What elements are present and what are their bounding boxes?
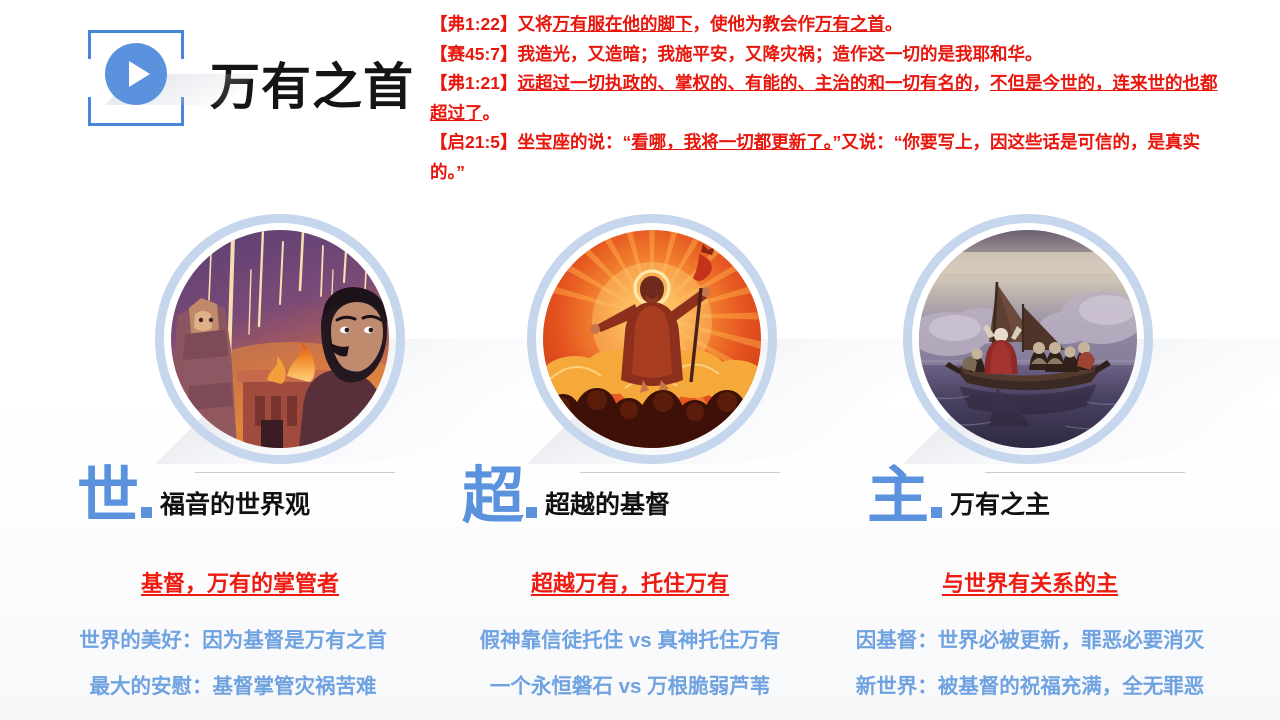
scripture-3-mid: ， <box>973 73 991 93</box>
column-points-grid: 世界的美好：因为基督是万有之首 最大的安慰：基督掌管灾祸苦难 假神靠信徒托住 v… <box>0 628 1280 718</box>
scripture-1-underline-2: 万有之首 <box>815 14 885 34</box>
column-heading-3: 主 万有之主 <box>845 462 1245 542</box>
heading-big-char-3: 主 <box>867 462 929 532</box>
circle-1-ring <box>155 214 405 464</box>
point-1-2: 最大的安慰：基督掌管灾祸苦难 <box>23 674 443 700</box>
scripture-3-suffix: 。 <box>483 103 501 123</box>
play-button-icon[interactable] <box>105 43 167 105</box>
heading-big-char-2: 超 <box>462 462 524 532</box>
point-2-1: 假神靠信徒托住 vs 真神托住万有 <box>420 628 840 654</box>
column-heading-2: 超 超越的基督 <box>440 462 840 542</box>
scripture-1-underline-1: 万有服在他的脚下 <box>553 14 693 34</box>
scripture-line-4: 【启21:5】坐宝座的说：“看哪，我将一切都更新了。”又说：“你要写上，因这些话… <box>430 128 1230 187</box>
circle-image-3 <box>903 214 1153 464</box>
column-headings-row: 世 福音的世界观 超 超越的基督 主 万有之主 <box>0 462 1280 542</box>
circle-2-ring <box>527 214 777 464</box>
circle-image-2 <box>527 214 777 464</box>
point-2-2: 一个永恒磐石 vs 万根脆弱芦苇 <box>420 674 840 700</box>
point-1-1: 世界的美好：因为基督是万有之首 <box>23 628 443 654</box>
title-logo-block: 万有之首 <box>88 26 408 142</box>
slide-root: 万有之首 【弗1:22】又将万有服在他的脚下，使他为教会作万有之首。 【赛45:… <box>0 0 1280 720</box>
circle-3-ring <box>903 214 1153 464</box>
point-3-1: 因基督：世界必被更新，罪恶必要消灭 <box>820 628 1240 654</box>
heading-dot-3 <box>931 507 942 518</box>
circle-image-row <box>0 214 1280 464</box>
red-subhead-1: 基督，万有的掌管者 <box>30 566 450 598</box>
scripture-line-2: 【赛45:7】我造光，又造暗；我施平安，又降灾祸；造作这一切的是我耶和华。 <box>430 40 1230 70</box>
scripture-4-underline-1: 看哪，我将一切都更新了。 <box>631 132 832 152</box>
heading-label-2: 超越的基督 <box>545 488 670 532</box>
heading-dot-2 <box>526 507 537 518</box>
heading-label-1: 福音的世界观 <box>160 488 310 532</box>
scripture-1-mid: ，使他为教会作 <box>693 14 816 34</box>
heading-big-char-1: 世 <box>77 462 139 532</box>
play-triangle-glyph <box>129 61 150 87</box>
scripture-3-prefix: 【弗1:21】 <box>430 73 518 93</box>
red-subhead-2: 超越万有，托住万有 <box>420 566 840 598</box>
frame-edge-bottom <box>114 123 158 126</box>
scripture-1-prefix: 【弗1:22】又将 <box>430 14 553 34</box>
point-3-2: 新世界：被基督的祝福充满，全无罪恶 <box>820 674 1240 700</box>
red-subhead-row: 基督，万有的掌管者 超越万有，托住万有 与世界有关系的主 <box>0 566 1280 602</box>
scripture-3-underline-1: 远超过一切执政的、掌权的、有能的、主治的和一切有名的 <box>518 73 973 93</box>
circle-image-1 <box>155 214 405 464</box>
heading-label-3: 万有之主 <box>950 488 1050 532</box>
scripture-4-prefix: 【启21:5】坐宝座的说：“ <box>430 132 631 152</box>
scripture-block: 【弗1:22】又将万有服在他的脚下，使他为教会作万有之首。 【赛45:7】我造光… <box>430 10 1230 187</box>
frame-edge-top <box>114 30 158 33</box>
scripture-line-3: 【弗1:21】远超过一切执政的、掌权的、有能的、主治的和一切有名的，不但是今世的… <box>430 69 1230 128</box>
slide-header: 万有之首 【弗1:22】又将万有服在他的脚下，使他为教会作万有之首。 【赛45:… <box>0 0 1280 200</box>
scripture-1-suffix: 。 <box>885 14 903 34</box>
red-subhead-3: 与世界有关系的主 <box>820 566 1240 598</box>
heading-dot-1 <box>141 507 152 518</box>
scripture-line-1: 【弗1:22】又将万有服在他的脚下，使他为教会作万有之首。 <box>430 10 1230 40</box>
column-heading-1: 世 福音的世界观 <box>55 462 455 542</box>
